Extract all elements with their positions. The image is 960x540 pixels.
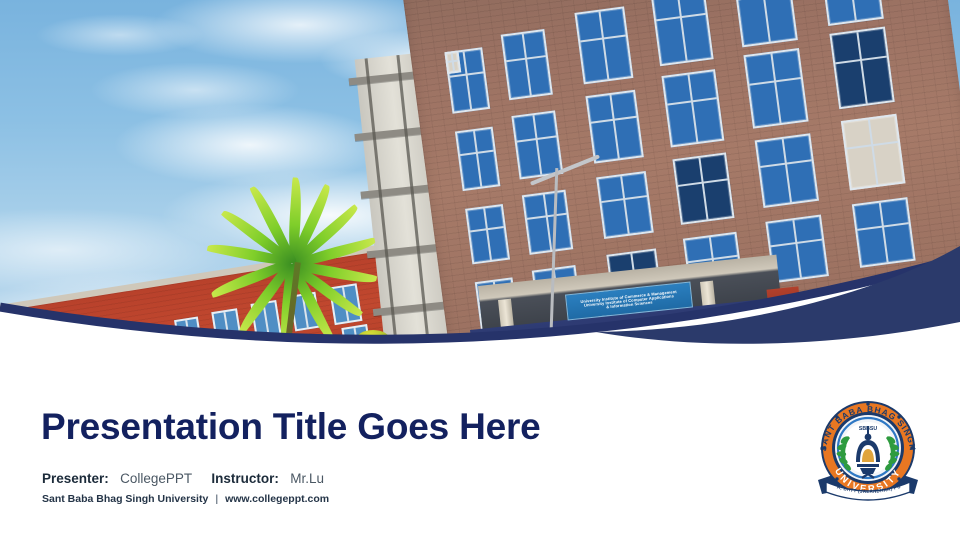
organization-line: Sant Baba Bhag Singh University | www.co… [42, 493, 329, 505]
utility-box [767, 286, 802, 319]
shrub [356, 330, 390, 350]
presentation-slide: University Institute of Commerce & Manag… [0, 0, 960, 540]
logo-center-text: SBBSU [859, 426, 877, 432]
instructor-value: Mr.Lu [290, 471, 324, 486]
wing-plinth [0, 348, 420, 375]
hero-photo-banner: University Institute of Commerce & Manag… [0, 0, 960, 375]
university-crest-icon: SANT BABA BHAG SINGH UNIVERSITY [812, 396, 924, 508]
university-logo: SANT BABA BHAG SINGH UNIVERSITY [812, 396, 924, 508]
hero-photo-clip: University Institute of Commerce & Manag… [0, 0, 960, 375]
presenter-instructor-line: Presenter: CollegePPT Instructor: Mr.Lu [42, 471, 324, 486]
separator: | [211, 493, 222, 505]
organization-name: Sant Baba Bhag Singh University [42, 493, 208, 505]
presenter-label: Presenter: [42, 471, 109, 486]
instructor-label: Instructor: [211, 471, 279, 486]
page-title: Presentation Title Goes Here [41, 406, 541, 448]
presenter-value: CollegePPT [120, 471, 192, 486]
website-link[interactable]: www.collegeppt.com [225, 493, 329, 505]
